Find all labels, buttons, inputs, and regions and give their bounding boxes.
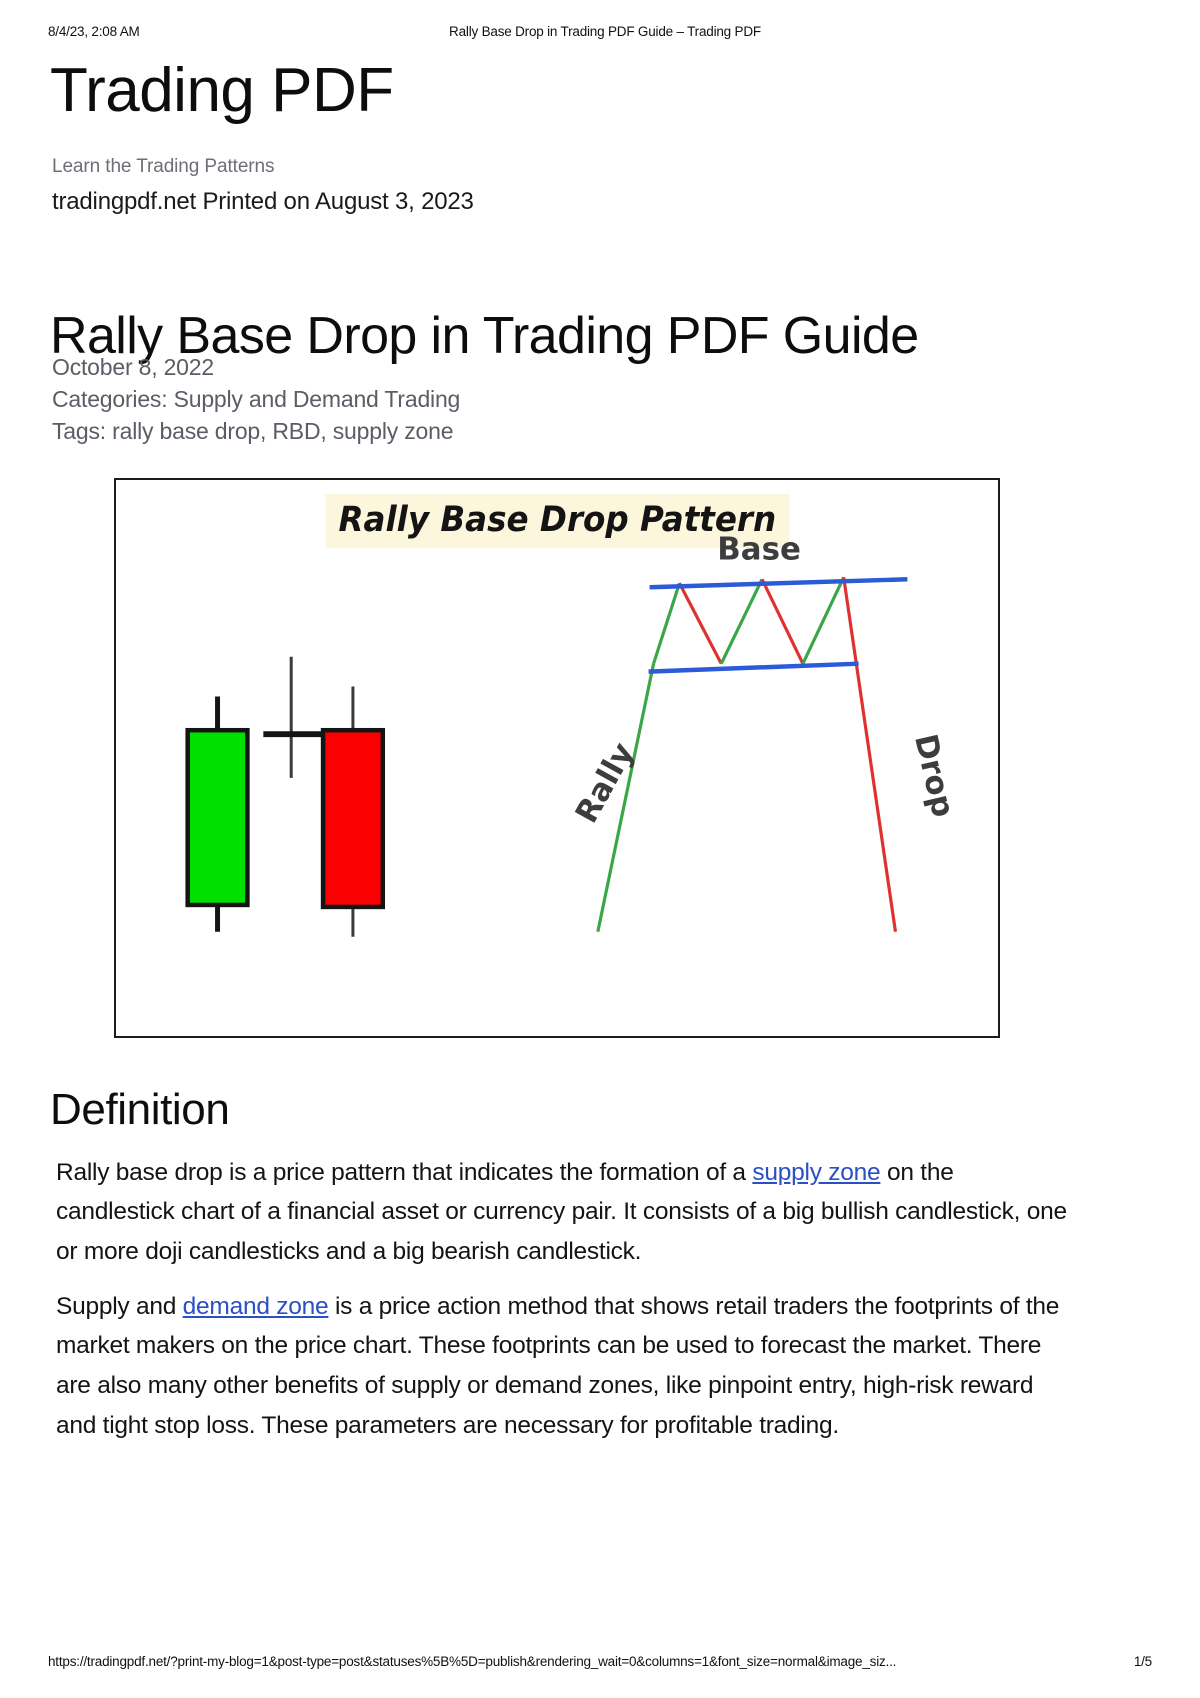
article-tags: Tags: rally base drop, RBD, supply zone <box>52 416 453 447</box>
bullish-candle <box>188 696 248 931</box>
drop-label: Drop <box>907 731 961 821</box>
base-down-1 <box>679 583 721 663</box>
base-up-1 <box>654 583 680 663</box>
candlestick-group <box>188 657 383 937</box>
doji-candle <box>263 657 321 778</box>
base-label: Base <box>717 531 801 567</box>
site-printed-line: tradingpdf.net Printed on August 3, 2023 <box>52 188 474 216</box>
article-date: October 8, 2022 <box>52 352 214 383</box>
article-categories: Categories: Supply and Demand Trading <box>52 384 460 415</box>
print-page-number: 1/5 <box>1134 1654 1152 1669</box>
bearish-candle <box>323 687 383 937</box>
rbd-schematic <box>598 577 908 931</box>
base-up-2 <box>721 579 762 663</box>
demand-zone-link[interactable]: demand zone <box>183 1293 329 1320</box>
bearish-candle-body <box>323 730 383 907</box>
site-tagline: Learn the Trading Patterns <box>52 156 274 178</box>
definition-paragraph-1: Rally base drop is a price pattern that … <box>56 1153 1078 1272</box>
print-document-title: Rally Base Drop in Trading PDF Guide – T… <box>48 24 1152 39</box>
section-heading-definition: Definition <box>50 1085 229 1135</box>
site-title: Trading PDF <box>50 58 394 123</box>
para2-text-before: Supply and <box>56 1293 183 1320</box>
supply-zone-link[interactable]: supply zone <box>752 1159 880 1186</box>
base-upper-trendline <box>650 579 908 587</box>
pattern-figure: Rally Base Drop Pattern <box>114 478 1000 1038</box>
pattern-illustration: Base Rally Drop <box>116 480 998 1036</box>
base-down-2 <box>762 579 803 663</box>
drop-leg-line <box>844 577 896 931</box>
rally-label: Rally <box>568 737 641 829</box>
print-source-url: https://tradingpdf.net/?print-my-blog=1&… <box>48 1654 896 1669</box>
para1-text-before: Rally base drop is a price pattern that … <box>56 1159 752 1186</box>
print-header: 8/4/23, 2:08 AM Rally Base Drop in Tradi… <box>48 24 1152 44</box>
print-footer: https://tradingpdf.net/?print-my-blog=1&… <box>48 1654 1152 1674</box>
print-preview-page: { "print_header": { "timestamp": "8/4/23… <box>0 0 1200 1698</box>
definition-paragraph-2: Supply and demand zone is a price action… <box>56 1287 1078 1446</box>
base-lower-trendline <box>649 664 859 672</box>
base-up-3 <box>803 577 844 663</box>
bullish-candle-body <box>188 730 248 905</box>
